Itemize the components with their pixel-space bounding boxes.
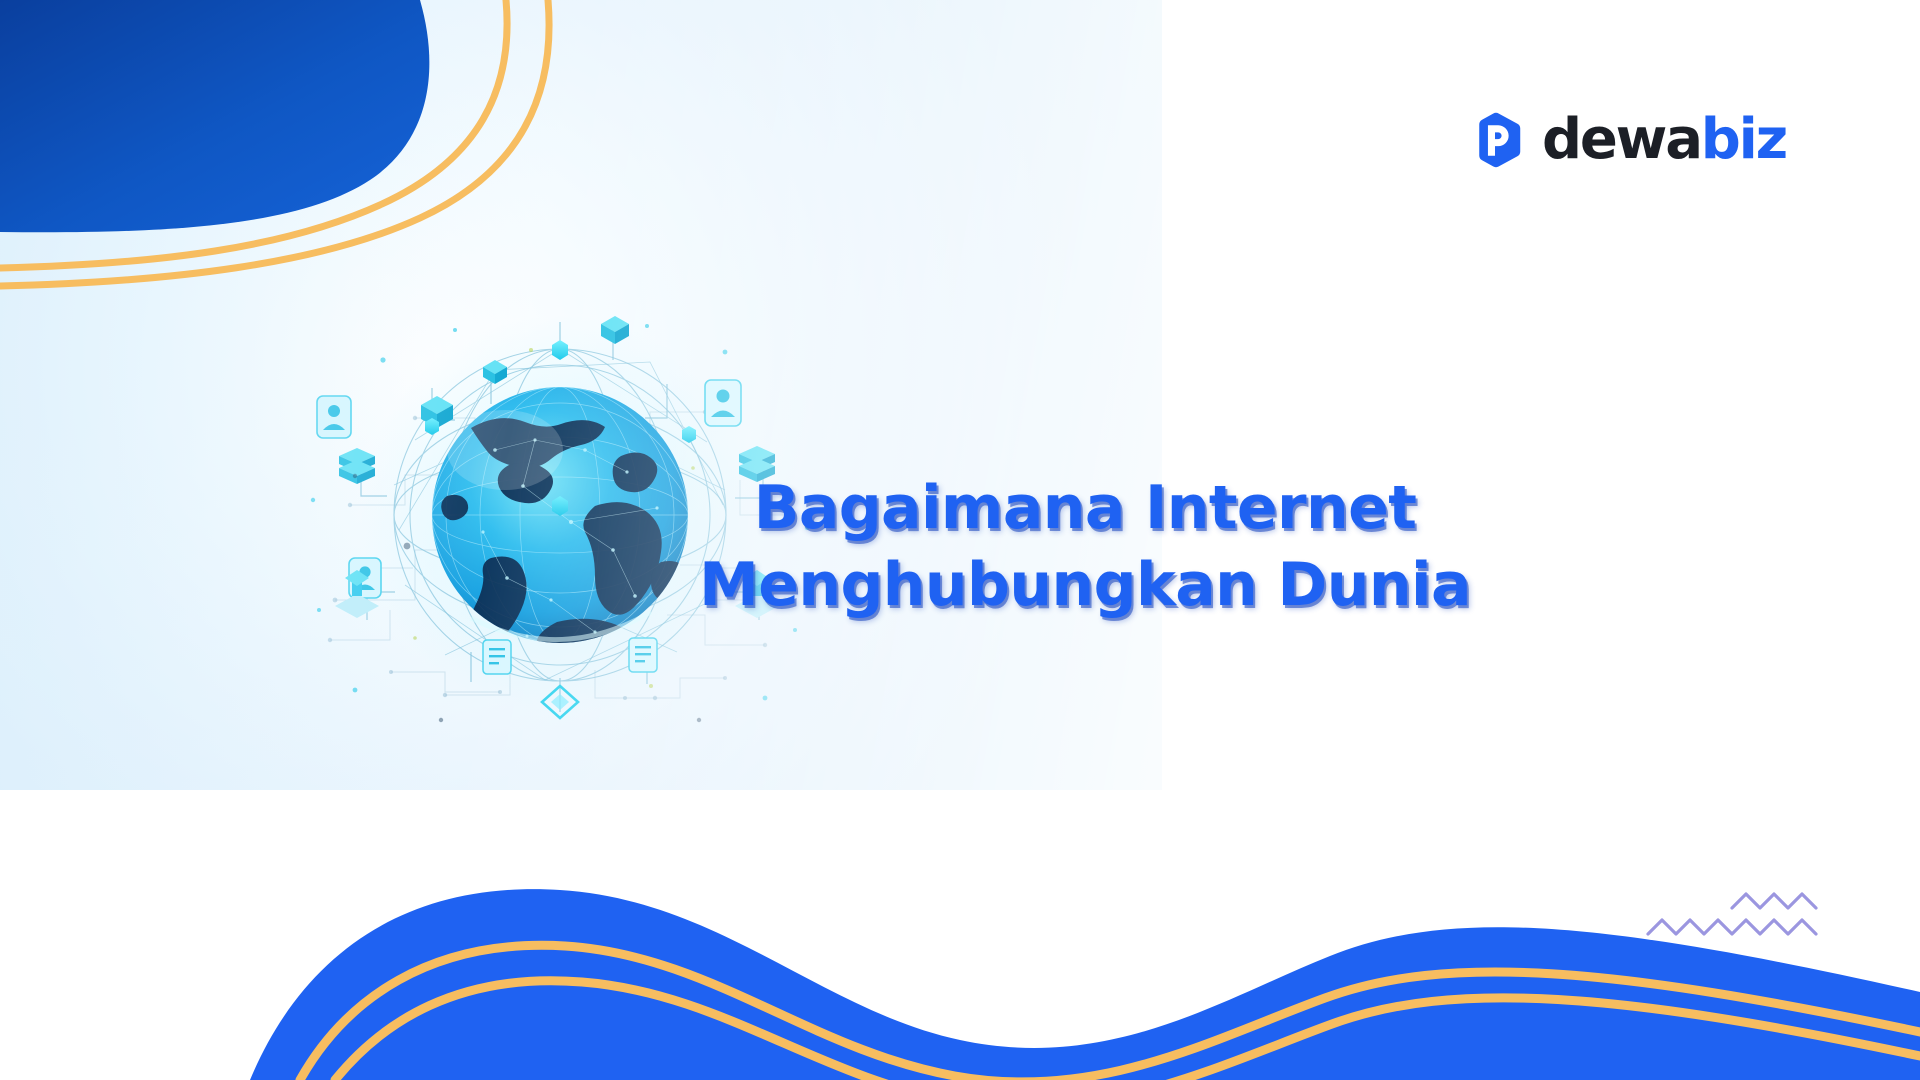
logo-wordmark: dewabiz [1542,112,1786,168]
dewabiz-hexagon-mark-icon [1472,111,1530,169]
illustration-panel: JARINGAN INTERNET GLOBAL THE GLOBAL INTE… [0,0,1162,790]
gold-wave-line-1 [300,945,1920,1080]
logo-text-dewa: dewa [1542,107,1701,172]
gold-wave-line-2 [335,981,1920,1080]
zigzag-decoration [1640,888,1850,958]
blue-wave-shape [250,889,1920,1080]
bottom-wave-decoration [0,850,1920,1080]
dewabiz-logo[interactable]: dewabiz [1472,108,1786,172]
title-line-1: Bagaimana Internet [645,470,1525,547]
logo-text-biz: biz [1701,107,1786,172]
slide-canvas: JARINGAN INTERNET GLOBAL THE GLOBAL INTE… [0,0,1920,1080]
zigzag-line-top [1732,894,1816,908]
title-line-2: Menghubungkan Dunia [645,547,1525,624]
zigzag-line-bottom [1648,920,1816,934]
page-title: Bagaimana Internet Menghubungkan Dunia [645,470,1525,624]
